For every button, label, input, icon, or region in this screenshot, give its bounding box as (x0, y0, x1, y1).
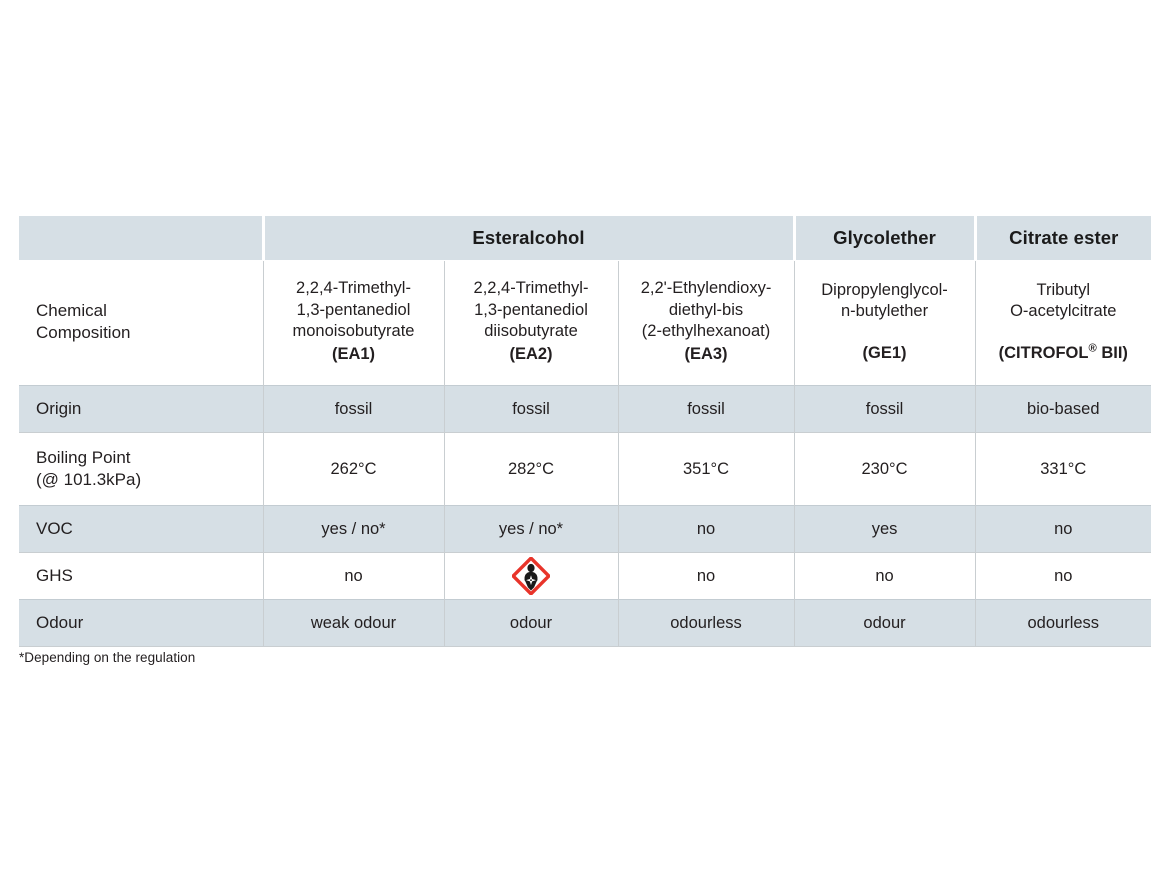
row-origin: Origin fossil fossil fossil fossil bio-b… (19, 386, 1151, 433)
cell-odour-citrofol: odourless (975, 600, 1151, 647)
composition-line-3: diisobutyrate (484, 322, 578, 340)
composition-code-ea2: (EA2) (449, 344, 614, 365)
cell-boiling-point-citrofol: 331°C (975, 433, 1151, 506)
cell-origin-ea2: fossil (444, 386, 618, 433)
row-label-line-2: Composition (36, 323, 131, 342)
cell-origin-citrofol: bio-based (975, 386, 1151, 433)
composition-line-2: diethyl-bis (669, 301, 743, 319)
cell-ghs-ea1: no (263, 553, 444, 600)
cell-odour-ea1: weak odour (263, 600, 444, 647)
row-label-boiling-point: Boiling Point (@ 101.3kPa) (19, 433, 263, 506)
composition-code-ea3: (EA3) (623, 344, 790, 365)
code-suffix: BII) (1097, 344, 1128, 362)
solvent-comparison-table: Esteralcohol Glycolether Citrate ester C… (19, 216, 1151, 647)
table-footnote: *Depending on the regulation (19, 650, 195, 665)
cell-odour-ea2: odour (444, 600, 618, 647)
composition-line-3: (2-ethylhexanoat) (642, 322, 770, 340)
composition-line-2: 1,3-pentanediol (474, 301, 588, 319)
composition-line-1: 2,2,4-Trimethyl- (296, 279, 411, 297)
ghs08-health-hazard-icon (512, 557, 550, 595)
composition-line-1: 2,2'-Ethylendioxy- (641, 279, 772, 297)
row-boiling-point: Boiling Point (@ 101.3kPa) 262°C 282°C 3… (19, 433, 1151, 506)
composition-code-citrofol: (CITROFOL® BII) (980, 343, 1148, 364)
cell-ghs-ea2 (444, 553, 618, 600)
cell-odour-ea3: odourless (618, 600, 794, 647)
code-prefix: (CITROFOL (999, 344, 1089, 362)
row-label-line-1: Chemical (36, 301, 107, 320)
cell-boiling-point-ea2: 282°C (444, 433, 618, 506)
cell-origin-ea3: fossil (618, 386, 794, 433)
composition-code-ge1: (GE1) (799, 343, 971, 364)
composition-line-2: O-acetylcitrate (1010, 302, 1116, 320)
row-label-line-2: (@ 101.3kPa) (36, 470, 141, 489)
row-voc: VOC yes / no* yes / no* no yes no (19, 506, 1151, 553)
cell-composition-ea3: 2,2'-Ethylendioxy- diethyl-bis (2-ethylh… (618, 261, 794, 386)
row-label-odour: Odour (19, 600, 263, 647)
cell-composition-ea2: 2,2,4-Trimethyl- 1,3-pentanediol diisobu… (444, 261, 618, 386)
row-label-chemical-composition: Chemical Composition (19, 261, 263, 386)
cell-voc-citrofol: no (975, 506, 1151, 553)
group-header-row: Esteralcohol Glycolether Citrate ester (19, 216, 1151, 261)
cell-composition-citrofol: Tributyl O-acetylcitrate (CITROFOL® BII) (975, 261, 1151, 386)
group-header-citrate-ester: Citrate ester (975, 216, 1151, 261)
composition-line-2: 1,3-pentanediol (297, 301, 411, 319)
composition-line-1: Tributyl (1037, 281, 1090, 299)
table-corner-cell (19, 216, 263, 261)
comparison-table-container: Esteralcohol Glycolether Citrate ester C… (19, 216, 1151, 647)
cell-voc-ea2: yes / no* (444, 506, 618, 553)
composition-line-1: Dipropylenglycol- (821, 281, 948, 299)
page-canvas: Esteralcohol Glycolether Citrate ester C… (0, 0, 1170, 878)
cell-boiling-point-ea3: 351°C (618, 433, 794, 506)
row-label-origin: Origin (19, 386, 263, 433)
row-odour: Odour weak odour odour odourless odour o… (19, 600, 1151, 647)
composition-line-1: 2,2,4-Trimethyl- (474, 279, 589, 297)
group-header-esteralcohol: Esteralcohol (263, 216, 794, 261)
cell-ghs-ea3: no (618, 553, 794, 600)
cell-boiling-point-ge1: 230°C (794, 433, 975, 506)
cell-ghs-ge1: no (794, 553, 975, 600)
cell-voc-ge1: yes (794, 506, 975, 553)
cell-origin-ge1: fossil (794, 386, 975, 433)
registered-trademark-icon: ® (1088, 342, 1096, 354)
composition-code-ea1: (EA1) (268, 344, 440, 365)
cell-composition-ge1: Dipropylenglycol- n-butylether (GE1) (794, 261, 975, 386)
row-label-ghs: GHS (19, 553, 263, 600)
cell-voc-ea3: no (618, 506, 794, 553)
cell-ghs-citrofol: no (975, 553, 1151, 600)
cell-composition-ea1: 2,2,4-Trimethyl- 1,3-pentanediol monoiso… (263, 261, 444, 386)
row-label-line-1: Boiling Point (36, 448, 131, 467)
row-ghs: GHS no (19, 553, 1151, 600)
composition-line-2: n-butylether (841, 302, 928, 320)
cell-boiling-point-ea1: 262°C (263, 433, 444, 506)
composition-line-3: monoisobutyrate (293, 322, 415, 340)
group-header-glycolether: Glycolether (794, 216, 975, 261)
cell-odour-ge1: odour (794, 600, 975, 647)
cell-origin-ea1: fossil (263, 386, 444, 433)
row-label-voc: VOC (19, 506, 263, 553)
row-chemical-composition: Chemical Composition 2,2,4-Trimethyl- 1,… (19, 261, 1151, 386)
cell-voc-ea1: yes / no* (263, 506, 444, 553)
